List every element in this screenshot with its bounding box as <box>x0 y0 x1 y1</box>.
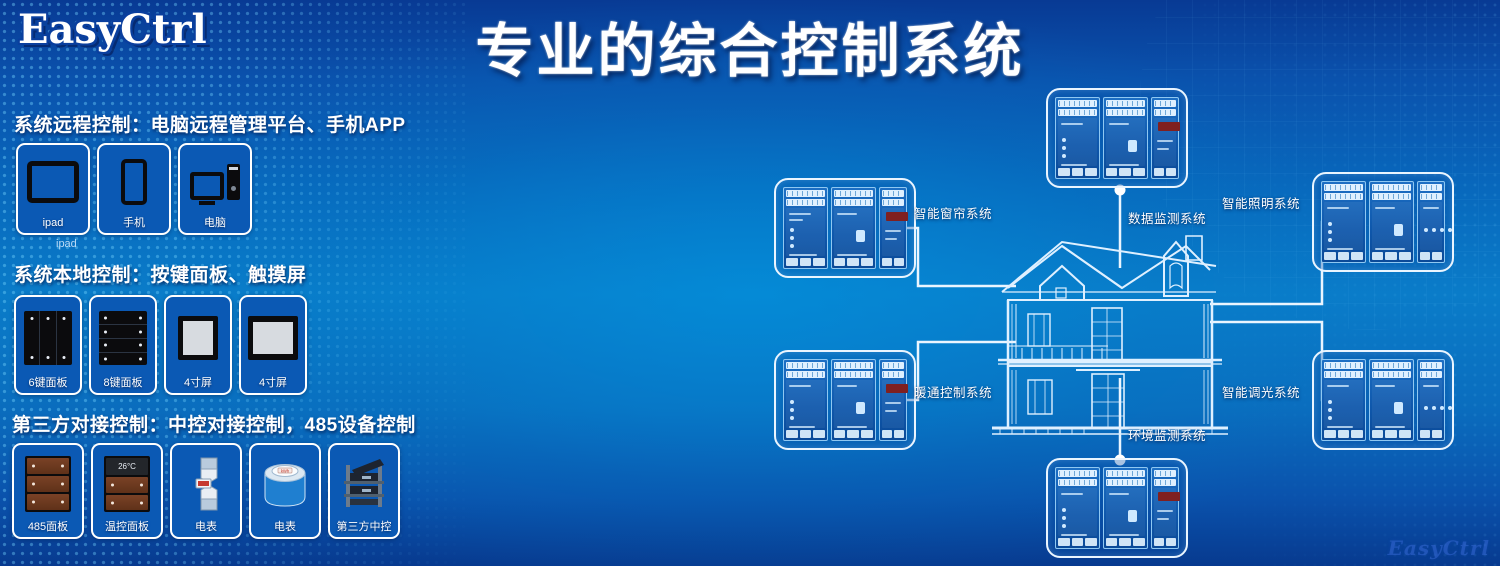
module-frame-hvac[interactable] <box>774 350 916 450</box>
third-party-controller-icon <box>335 451 393 518</box>
module-frame-dimming[interactable] <box>1312 350 1454 450</box>
node-label-hvac: 暖通控制系统 <box>914 382 992 401</box>
device-card-touchscreen-small[interactable]: 4寸屏 <box>164 295 232 395</box>
svg-text:kWh: kWh <box>281 469 290 474</box>
section-heading-remote-control: 系统远程控制：电脑远程管理平台、手机APP <box>14 110 406 137</box>
smartphone-icon <box>104 151 164 214</box>
module-frame-data-monitoring[interactable] <box>1046 88 1188 188</box>
device-card-third-party-controller[interactable]: 第三方中控 <box>328 443 400 539</box>
device-card-row-third-party: 485面板 26°C 温控面板 电表 <box>12 443 400 539</box>
thermostat-temperature-display: 26°C <box>106 458 148 475</box>
device-card-485-panel[interactable]: 485面板 <box>12 443 84 539</box>
device-card-computer[interactable]: 电脑 <box>178 143 252 235</box>
six-key-panel-icon <box>21 303 75 374</box>
energy-meter-icon <box>177 451 235 518</box>
small-touchscreen-icon <box>171 303 225 374</box>
device-card-energy-meter[interactable]: 电表 <box>170 443 242 539</box>
device-card-phone[interactable]: 手机 <box>97 143 171 235</box>
section-heading-local-control: 系统本地控制：按键面板、触摸屏 <box>14 260 307 287</box>
node-label-data-monitoring: 数据监测系统 <box>1128 208 1206 227</box>
duplicate-ipad-caption: ipad <box>56 238 77 250</box>
device-card-thermostat-panel[interactable]: 26°C 温控面板 <box>91 443 163 539</box>
system-topology-diagram: 智能窗帘系统 数据监测系统 智能照明系统 暖通控制系统 环境监测系统 智能调光系… <box>740 60 1500 566</box>
node-label-curtain: 智能窗帘系统 <box>914 203 992 222</box>
device-card-label: 电脑 <box>204 217 226 229</box>
large-touchscreen-icon <box>246 303 300 374</box>
desktop-computer-icon <box>185 151 245 214</box>
device-card-label: 电表 <box>274 521 296 533</box>
brand-logo: EasyCtrl <box>18 6 207 53</box>
round-energy-meter-icon: kWh <box>256 451 314 518</box>
module-frame-curtain[interactable] <box>774 178 916 278</box>
rs485-panel-icon <box>19 451 77 518</box>
device-card-label: 温控面板 <box>105 521 149 533</box>
device-card-ipad[interactable]: ipad <box>16 143 90 235</box>
device-card-row-remote: ipad 手机 电脑 <box>16 143 252 235</box>
device-card-label: 4寸屏 <box>259 377 287 389</box>
node-label-environment: 环境监测系统 <box>1128 425 1206 444</box>
node-label-lighting: 智能照明系统 <box>1222 193 1300 212</box>
device-card-label: 第三方中控 <box>337 521 392 533</box>
device-card-label: 485面板 <box>28 521 68 533</box>
device-card-round-energy-meter[interactable]: kWh 电表 <box>249 443 321 539</box>
device-card-6key-panel[interactable]: 6键面板 <box>14 295 82 395</box>
device-card-label: 6键面板 <box>28 377 67 389</box>
module-frame-environment[interactable] <box>1046 458 1188 558</box>
device-card-row-local: 6键面板 8键面板 4寸屏 4寸屏 <box>14 295 307 395</box>
device-card-label: 电表 <box>195 521 217 533</box>
eight-key-panel-icon <box>96 303 150 374</box>
tablet-icon <box>23 151 83 214</box>
device-card-label: 手机 <box>123 217 145 229</box>
device-card-label: ipad <box>43 217 64 229</box>
house-illustration <box>992 236 1228 434</box>
node-label-dimming: 智能调光系统 <box>1222 382 1300 401</box>
device-card-label: 8键面板 <box>103 377 142 389</box>
device-card-touchscreen-large[interactable]: 4寸屏 <box>239 295 307 395</box>
module-frame-lighting[interactable] <box>1312 172 1454 272</box>
watermark: EasyCtrl <box>1388 536 1490 560</box>
device-card-label: 4寸屏 <box>184 377 212 389</box>
thermostat-panel-icon: 26°C <box>98 451 156 518</box>
device-card-8key-panel[interactable]: 8键面板 <box>89 295 157 395</box>
poster-canvas: EasyCtrl 专业的综合控制系统 系统远程控制：电脑远程管理平台、手机APP… <box>0 0 1500 566</box>
section-heading-third-party-control: 第三方对接控制：中控对接控制，485设备控制 <box>12 410 416 437</box>
